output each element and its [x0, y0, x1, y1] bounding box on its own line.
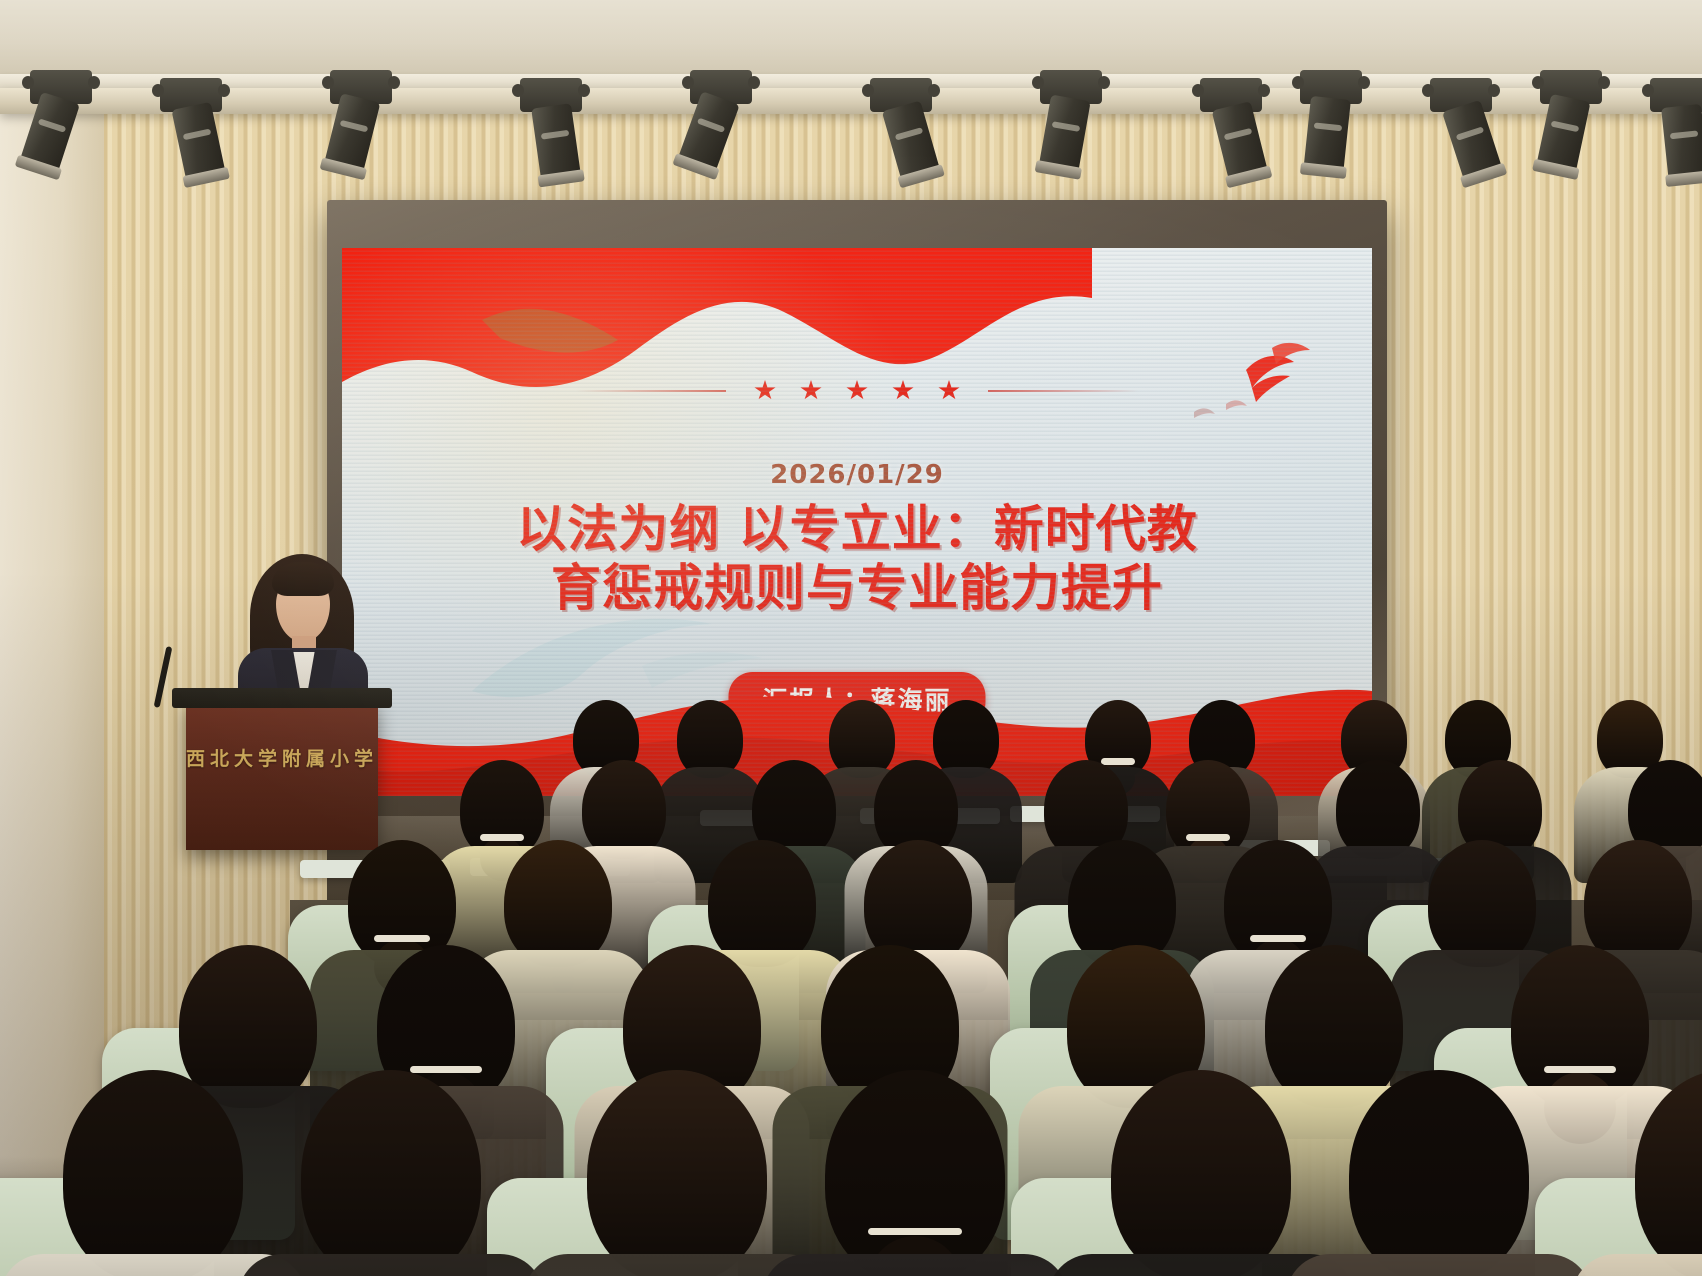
auditorium-photo: 2026/01/29 以法为纲 以专立业：新时代教 育惩戒规则与专业能力提升 汇… [0, 0, 1702, 1276]
audience-member-hair-tie [1250, 935, 1306, 942]
ceiling [0, 0, 1702, 78]
audience-member-head [587, 1070, 767, 1276]
audience-member [762, 1070, 1068, 1276]
audience-member-head [1635, 1070, 1702, 1276]
audience-member-coat [762, 1254, 1068, 1276]
audience-member-coat [238, 1254, 544, 1276]
audience-member-coat [1572, 1254, 1702, 1276]
audience-member-coat [1286, 1254, 1592, 1276]
audience-member [1572, 1070, 1702, 1276]
audience-member-head [1349, 1070, 1529, 1276]
audience-member-head [301, 1070, 481, 1276]
audience-member-head [63, 1070, 243, 1276]
audience-member [238, 1070, 544, 1276]
audience-member-hair-tie [868, 1228, 962, 1235]
audience-member-hair-tie [374, 935, 430, 942]
audience-member-head [1111, 1070, 1291, 1276]
audience-member [1286, 1070, 1592, 1276]
